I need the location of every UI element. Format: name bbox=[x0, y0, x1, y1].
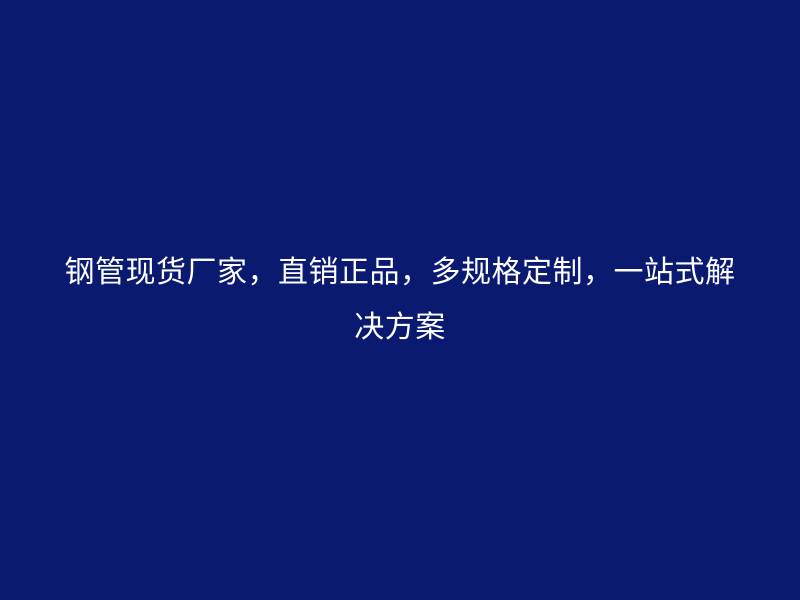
banner-headline: 钢管现货厂家，直销正品，多规格定制，一站式解决方案 bbox=[50, 245, 750, 355]
promo-banner: 钢管现货厂家，直销正品，多规格定制，一站式解决方案 bbox=[0, 0, 800, 600]
headline-container: 钢管现货厂家，直销正品，多规格定制，一站式解决方案 bbox=[50, 245, 750, 355]
